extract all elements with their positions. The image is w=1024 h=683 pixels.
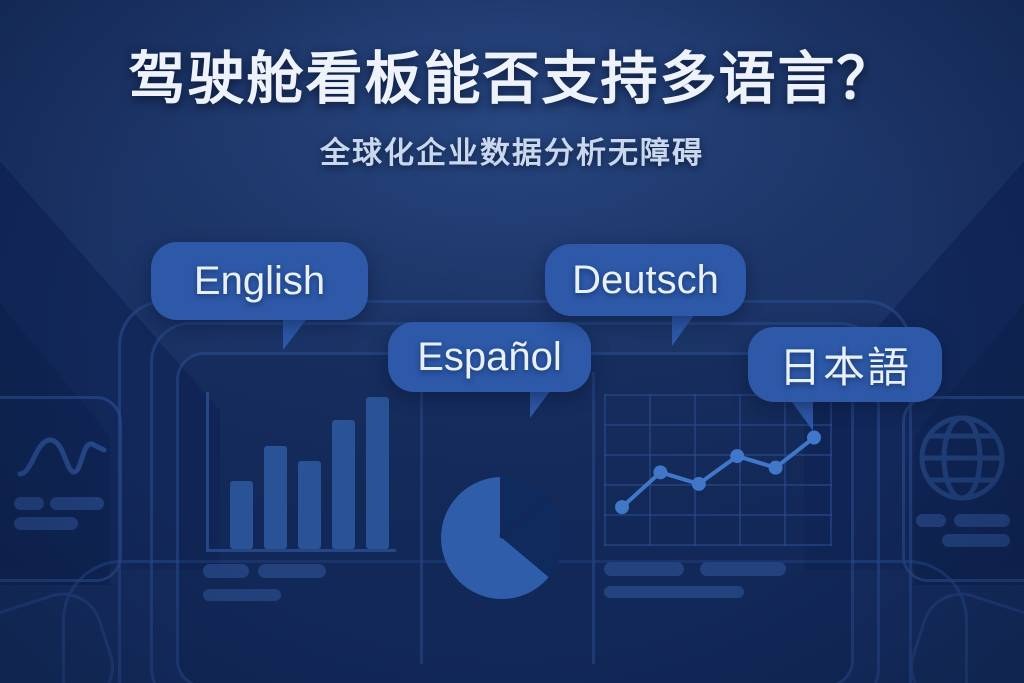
language-bubble-espanol-label: Español <box>417 335 562 380</box>
banner-canvas: 驾驶舱看板能否支持多语言？ 全球化企业数据分析无障碍 English Españ… <box>0 0 1024 683</box>
language-bubble-deutsch-label: Deutsch <box>572 258 719 303</box>
language-bubble-deutsch[interactable]: Deutsch <box>545 244 746 316</box>
bubble-tail-deutsch <box>672 311 697 346</box>
heading-block: 驾驶舱看板能否支持多语言？ 全球化企业数据分析无障碍 <box>0 48 1024 172</box>
language-bubble-english[interactable]: English <box>151 242 368 320</box>
language-bubble-japanese-label: 日本語 <box>779 334 911 395</box>
page-title: 驾驶舱看板能否支持多语言？ <box>0 48 1024 112</box>
bubble-tail-japanese <box>789 398 813 431</box>
page-subtitle: 全球化企业数据分析无障碍 <box>0 128 1024 172</box>
language-bubble-english-label: English <box>194 259 325 304</box>
language-bubble-japanese[interactable]: 日本語 <box>748 327 942 402</box>
bubble-tail-english <box>283 316 309 350</box>
language-bubble-espanol[interactable]: Español <box>388 322 591 392</box>
